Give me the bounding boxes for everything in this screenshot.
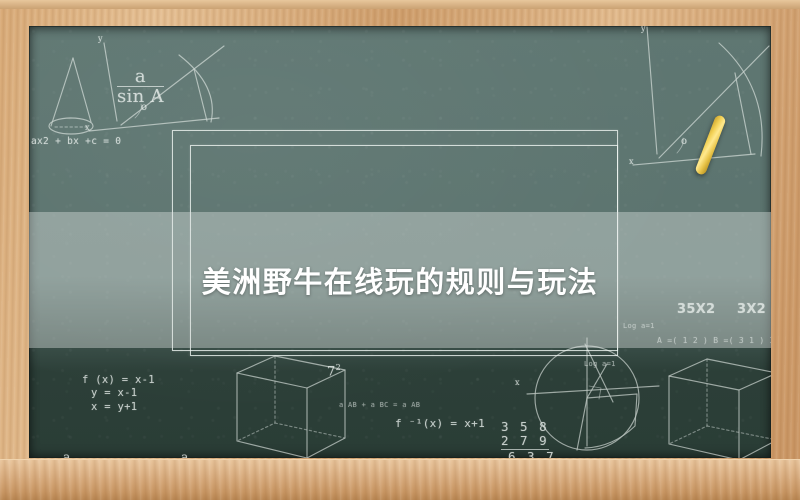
chalkboard-surface: a sin A ax2 + bx +c = 0 y x o y x o 35X2… [29, 26, 771, 458]
division-row-1: 3 5 8 [501, 420, 556, 434]
protractor-label-x: x [629, 157, 634, 166]
law-of-sines-middle: a sin A [169, 451, 201, 458]
law-of-sines-top: a sin A [117, 68, 164, 107]
power-seven-base: 7 [327, 364, 336, 379]
protractor-diagram [633, 27, 769, 165]
function-line-3: x = y+1 [82, 401, 155, 414]
power-seven-exponent: 2 [336, 363, 341, 372]
page-title: 美洲野牛在线玩的规则与玩法 [29, 212, 771, 348]
protractor-label-y: y [641, 26, 646, 33]
fraction-numerator: a [169, 451, 201, 458]
frame-top-highlight [0, 0, 800, 9]
quadratic-equation: ax2 + bx +c = 0 [31, 136, 121, 147]
circle-axis-x-label: x [515, 378, 520, 387]
function-line-2: y = x-1 [82, 387, 155, 400]
fraction-numerator: a [51, 451, 83, 458]
long-division: 3 5 8 2 7 9 6 3 7 [501, 420, 556, 458]
division-row-2: 2 7 9 [501, 434, 549, 449]
angle-label-o: o [141, 102, 147, 113]
law-of-sines-bottom-left: a sin A [51, 451, 83, 458]
power-seven: 72 [327, 363, 341, 379]
fraction-numerator: a [117, 68, 164, 86]
division-row-3: 6 3 7 [501, 450, 556, 458]
axis-label-x: x [85, 123, 90, 132]
vector-sum-expression: a AB + a BC = a AB [339, 401, 420, 409]
protractor-angle-o: o [681, 136, 687, 147]
function-line-1: f (x) = x-1 [82, 374, 155, 387]
inverse-function: f ⁻¹(x) = x+1 [395, 417, 485, 430]
chalkboard-banner-image: a sin A ax2 + bx +c = 0 y x o y x o 35X2… [0, 0, 800, 500]
axis-label-y: y [98, 34, 103, 43]
log-label-left: Log a=1 [584, 360, 616, 368]
function-system: f (x) = x-1 y = x-1 x = y+1 [82, 374, 155, 414]
wooden-chalk-ledge [0, 459, 800, 500]
cube-drawing-right [669, 359, 771, 458]
